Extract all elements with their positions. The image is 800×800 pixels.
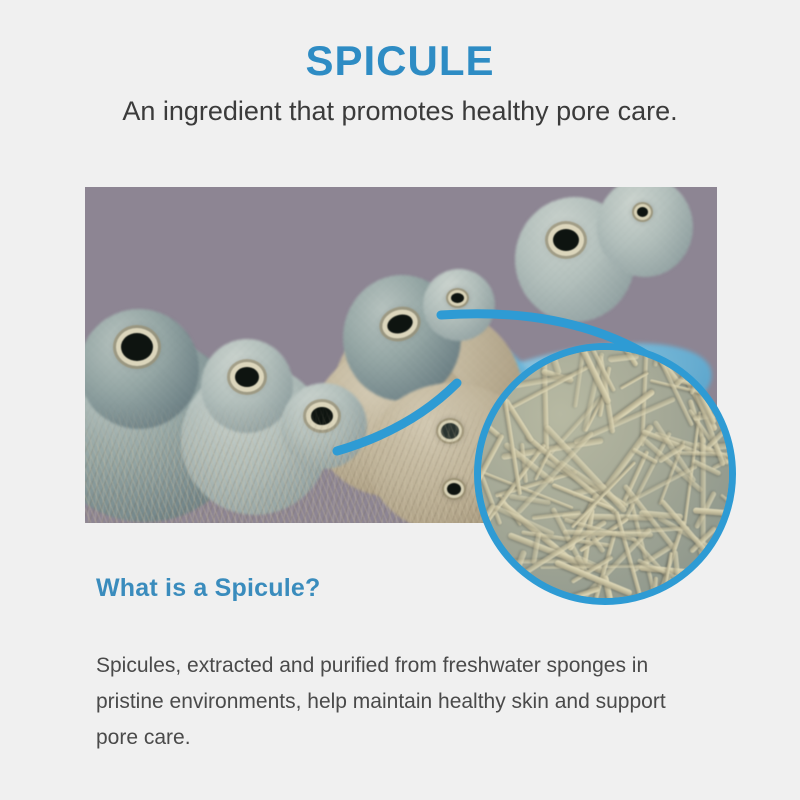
- spicule-rod: [474, 598, 503, 605]
- osculum-left-turret: [121, 333, 153, 361]
- page-subtitle: An ingredient that promotes healthy pore…: [0, 96, 800, 127]
- spicule-rod: [474, 452, 479, 466]
- sponge-body-small-bud: [423, 269, 495, 341]
- page-title: SPICULE: [0, 40, 800, 82]
- osculum-bg-right-2: [637, 207, 648, 217]
- infographic-page: SPICULE An ingredient that promotes heal…: [0, 0, 800, 800]
- spicule-rods: [474, 343, 736, 605]
- section-heading: What is a Spicule?: [96, 574, 320, 603]
- header: SPICULE An ingredient that promotes heal…: [0, 40, 800, 127]
- osculum-bg-right-1: [553, 229, 579, 251]
- magnifier-circle: [474, 343, 736, 605]
- magnifier-field: [481, 350, 729, 598]
- body-paragraph: Spicules, extracted and purified from fr…: [96, 648, 696, 756]
- spicule-rod: [731, 435, 736, 531]
- osculum-left-mid: [235, 367, 259, 387]
- osculum-bottom-right: [447, 483, 461, 495]
- osculum-small-bud: [451, 293, 464, 303]
- spicule-rod: [732, 481, 736, 532]
